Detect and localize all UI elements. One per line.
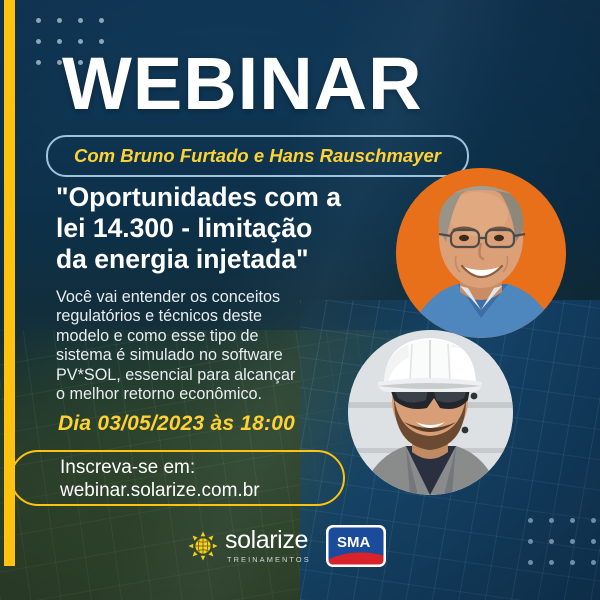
sma-name: SMA (337, 534, 371, 551)
footer-logos: solarize TREINAMENTOS SMA (188, 524, 387, 568)
description-line: PV*SOL, essencial para alcançar (56, 366, 356, 385)
solarize-wordmark: solarize TREINAMENTOS (225, 528, 311, 563)
dot-grid-bottom-right-icon (528, 518, 600, 565)
registration-url[interactable]: webinar.solarize.com.br (60, 479, 260, 502)
speaker-portrait-bruno-furtado (396, 168, 566, 338)
page-title: WEBINAR (62, 46, 423, 122)
speakers-label: Com Bruno Furtado e Hans Rauschmayer (74, 145, 441, 167)
registration-text: Inscreva-se em: webinar.solarize.com.br (60, 456, 260, 502)
solarize-tagline: TREINAMENTOS (227, 556, 311, 563)
speaker-portrait-hans-rauschmayer (348, 330, 513, 495)
description-line: regulatórios e técnicos deste (56, 307, 356, 326)
webinar-poster: WEBINAR Com Bruno Furtado e Hans Rauschm… (0, 0, 600, 600)
description-line: Você vai entender os conceitos (56, 288, 356, 307)
portrait-illustration (348, 330, 513, 495)
headline-line: lei 14.300 - limitação (56, 213, 396, 244)
headline: "Oportunidades com a lei 14.300 - limita… (56, 182, 396, 275)
description-line: modelo e como esse tipo de (56, 327, 356, 346)
solarize-logo: solarize TREINAMENTOS (188, 528, 311, 563)
event-date: Dia 03/05/2023 às 18:00 (58, 412, 295, 436)
registration-label: Inscreva-se em: (60, 456, 260, 479)
description-paragraph: Você vai entender os conceitos regulatór… (56, 288, 356, 404)
portrait-illustration (396, 168, 566, 338)
description-line: o melhor retorno econômico. (56, 385, 356, 404)
sma-logo: SMA (325, 524, 387, 568)
headline-line: "Oportunidades com a (56, 182, 396, 213)
speakers-pill: Com Bruno Furtado e Hans Rauschmayer (46, 135, 469, 177)
solarize-name: solarize (225, 528, 311, 553)
headline-line: da energia injetada" (56, 244, 396, 275)
description-line: sistema é simulado no software (56, 346, 356, 365)
solarize-sun-icon (188, 531, 218, 561)
